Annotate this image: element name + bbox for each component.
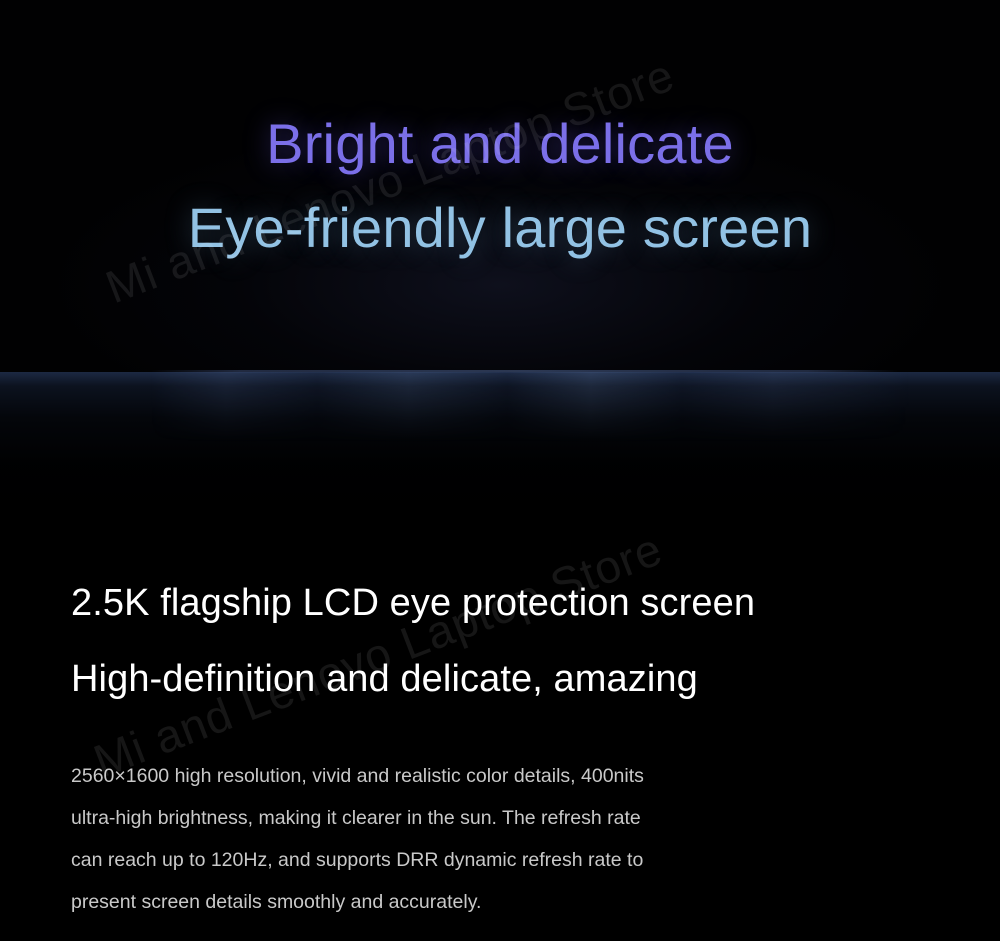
banner-reflection-streaks: [150, 372, 910, 442]
feature-body-line: ultra-high brightness, making it clearer…: [71, 797, 883, 839]
feature-body-paragraph: 2560×1600 high resolution, vivid and rea…: [71, 755, 883, 923]
hero-headline-line-2: Eye-friendly large screen: [188, 200, 812, 256]
product-feature-page: Bright and delicate Eye-friendly large s…: [0, 0, 1000, 941]
feature-body-line: present screen details smoothly and accu…: [71, 881, 883, 923]
feature-body-line: 2560×1600 high resolution, vivid and rea…: [71, 755, 883, 797]
hero-headline-line-1: Bright and delicate: [266, 116, 734, 172]
feature-description-block: 2.5K flagship LCD eye protection screen …: [71, 552, 971, 923]
hero-headline-group: Bright and delicate Eye-friendly large s…: [0, 0, 1000, 372]
feature-body-line: can reach up to 120Hz, and supports DRR …: [71, 839, 883, 881]
feature-subheading-line-1: 2.5K flagship LCD eye protection screen: [71, 584, 971, 622]
hero-banner: Bright and delicate Eye-friendly large s…: [0, 0, 1000, 372]
banner-reflection: [0, 372, 1000, 522]
feature-subheading-line-2: High-definition and delicate, amazing: [71, 660, 971, 698]
